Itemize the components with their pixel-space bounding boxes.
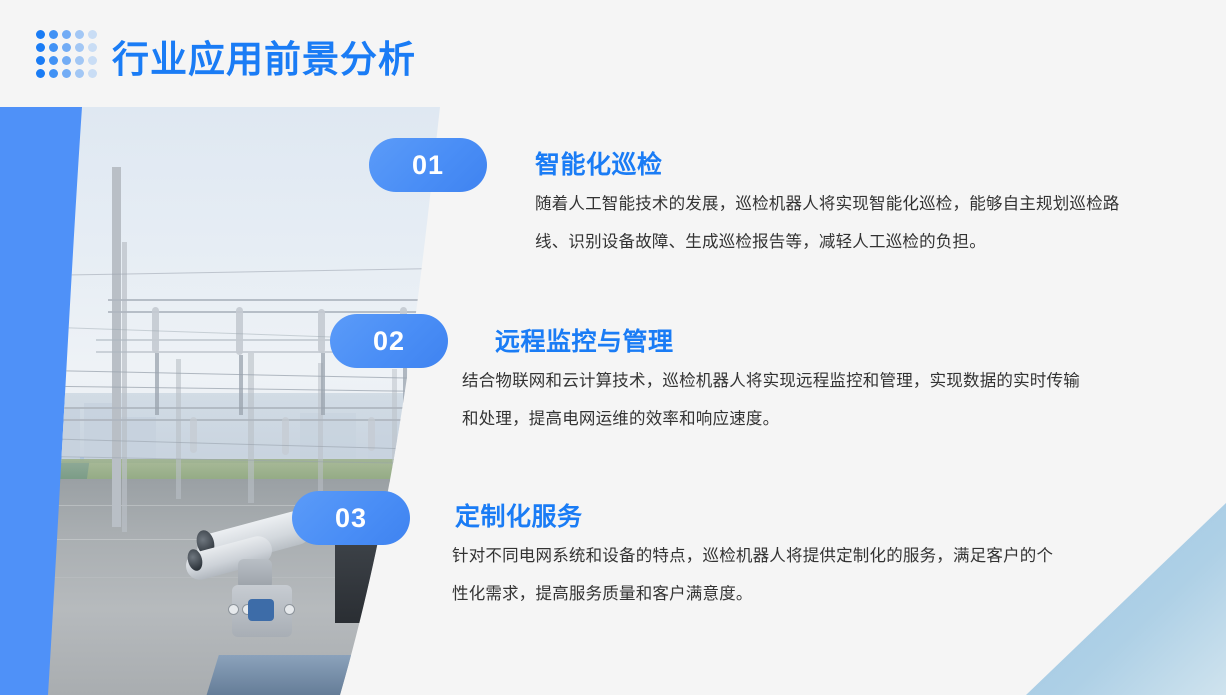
page-title: 行业应用前景分析 [112, 38, 416, 82]
item-title-03: 定制化服务 [455, 497, 583, 533]
item-desc-01: 随着人工智能技术的发展，巡检机器人将实现智能化巡检，能够自主规划巡检路线、识别设… [535, 185, 1150, 261]
dot-grid-icon [36, 30, 101, 82]
slide-header: 行业应用前景分析 [0, 0, 1226, 107]
item-badge-02[interactable]: 02 [330, 314, 448, 368]
slide-body: 01 智能化巡检 随着人工智能技术的发展，巡检机器人将实现智能化巡检，能够自主规… [0, 107, 1226, 695]
item-title-02: 远程监控与管理 [495, 322, 674, 358]
item-title-01: 智能化巡检 [535, 145, 663, 181]
slide-root: 行业应用前景分析 [0, 0, 1226, 695]
item-badge-03[interactable]: 03 [292, 491, 410, 545]
item-desc-03: 针对不同电网系统和设备的特点，巡检机器人将提供定制化的服务，满足客户的个性化需求… [452, 537, 1064, 613]
content-list: 01 智能化巡检 随着人工智能技术的发展，巡检机器人将实现智能化巡检，能够自主规… [0, 107, 1226, 695]
item-badge-01[interactable]: 01 [369, 138, 487, 192]
item-desc-02: 结合物联网和云计算技术，巡检机器人将实现远程监控和管理，实现数据的实时传输和处理… [462, 362, 1094, 438]
